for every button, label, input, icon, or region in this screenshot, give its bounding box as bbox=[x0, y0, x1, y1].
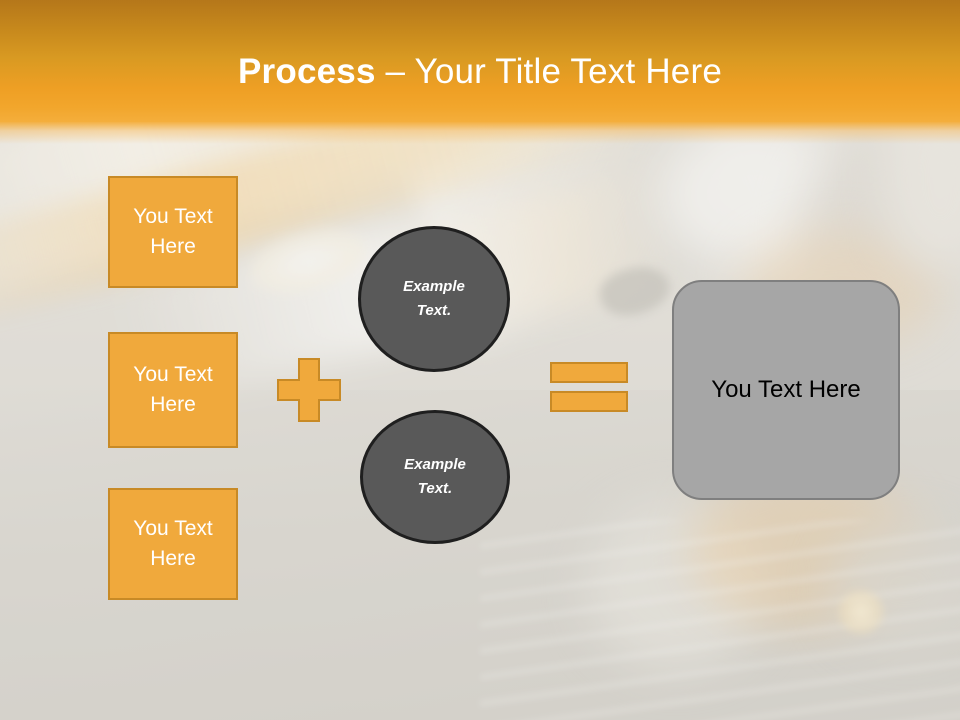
plus-icon bbox=[277, 358, 341, 422]
input-box-3[interactable]: You Text Here bbox=[108, 488, 238, 600]
slide-canvas: Process – Your Title Text Here You Text … bbox=[0, 0, 960, 720]
example-circle-1[interactable]: Example Text. bbox=[358, 226, 510, 372]
result-box[interactable]: You Text Here bbox=[672, 280, 900, 500]
equals-icon bbox=[550, 362, 628, 412]
example-circle-1-label: Example Text. bbox=[391, 275, 477, 323]
page-title-rest: – Your Title Text Here bbox=[376, 52, 722, 91]
plus-icon-fill-vertical bbox=[300, 360, 318, 420]
input-box-3-label: You Text Here bbox=[132, 514, 214, 574]
plus-icon-edge-left bbox=[277, 379, 279, 401]
page-title: Process – Your Title Text Here bbox=[0, 50, 960, 94]
equals-icon-bar-bottom bbox=[550, 391, 628, 412]
plus-icon-edge-bottom bbox=[298, 420, 320, 422]
input-box-2[interactable]: You Text Here bbox=[108, 332, 238, 448]
result-box-label: You Text Here bbox=[711, 376, 860, 404]
plus-icon-edge-right bbox=[339, 379, 341, 401]
equals-icon-bar-top bbox=[550, 362, 628, 383]
plus-icon-edge-top bbox=[298, 358, 320, 360]
page-title-strong: Process bbox=[238, 52, 376, 91]
input-box-1-label: You Text Here bbox=[132, 202, 214, 262]
input-box-1[interactable]: You Text Here bbox=[108, 176, 238, 288]
input-box-2-label: You Text Here bbox=[132, 360, 214, 420]
example-circle-2-label: Example Text. bbox=[392, 453, 478, 501]
example-circle-2[interactable]: Example Text. bbox=[360, 410, 510, 544]
header-fade bbox=[0, 122, 960, 144]
